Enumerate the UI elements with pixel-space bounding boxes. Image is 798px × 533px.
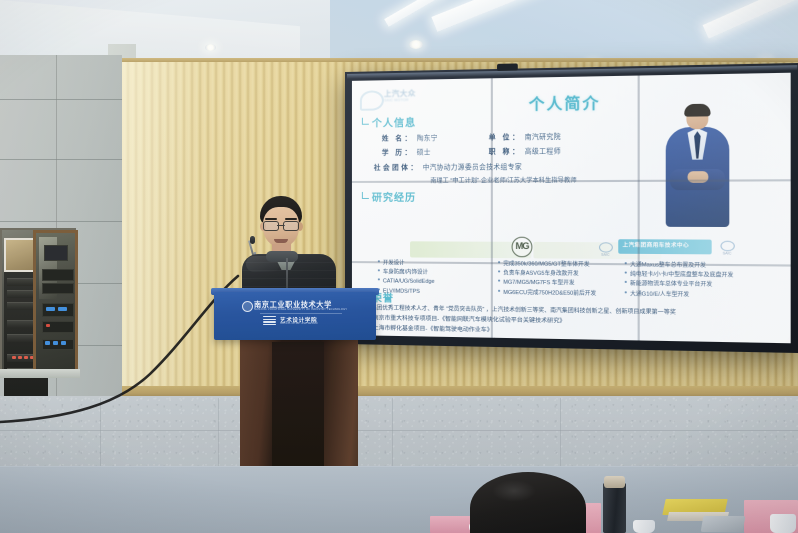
section-heading-research: 研究经历 xyxy=(362,189,416,204)
mobile-phone xyxy=(701,516,746,532)
university-name-en: NANJING VOCATIONAL UNIVERSITY OF INDUSTR… xyxy=(254,308,347,311)
downlight-icon xyxy=(205,44,216,51)
ceiling-camera-icon xyxy=(497,63,518,71)
section-tick-icon xyxy=(362,192,369,199)
thermos-bottle xyxy=(603,483,626,533)
bullet-column-commercial: 大通Maxus整车总布置及开发 纯电轻卡/小卡/中型底盘整车及底盘开发 新能源物… xyxy=(625,261,734,301)
podium-center-panel xyxy=(272,342,324,484)
wood-wall-top-trim xyxy=(122,58,798,62)
portrait-hair xyxy=(684,104,710,117)
university-emblem-icon xyxy=(242,301,253,312)
field-affiliation: 社会团体：中汽协动力源委员会技术组专家 xyxy=(374,161,522,172)
ceiling-mount-bracket xyxy=(44,245,68,261)
field-name: 姓 名：陶东宁 xyxy=(382,132,438,143)
panel-seam-vertical xyxy=(638,76,640,341)
section-tick-icon xyxy=(362,118,369,125)
jacket-collar xyxy=(266,251,298,262)
mini-logo-icon-right: SAIC xyxy=(716,241,738,256)
slide-portrait-photo xyxy=(664,106,732,228)
speaker-mouth xyxy=(274,239,288,243)
presentation-photo-scene: 上汽大众 SAIC MOTOR 个人简介 个人信息 姓 名：陶东宁 单 位：南汽… xyxy=(0,0,798,533)
section-heading-personal-info: 个人信息 xyxy=(362,114,416,130)
thermos-cap xyxy=(604,476,625,488)
speaker-eyebrow-left xyxy=(265,218,277,220)
field-title: 职 称：高级工程师 xyxy=(489,145,561,156)
speaker-person xyxy=(236,196,342,296)
field-education: 学 历：硕士 xyxy=(382,146,431,156)
paper-cup xyxy=(770,514,796,533)
speaker-eyebrow-right xyxy=(285,218,297,220)
mg-logo-icon: MG xyxy=(512,237,533,258)
panel-seam-vertical xyxy=(491,78,493,337)
audience-head-highlight xyxy=(492,480,536,502)
bullet-column-mg: 完成350k/360/MG5/GT整车体开发 负责车身ASVG5车身改款开发 M… xyxy=(498,260,596,299)
pink-paper xyxy=(430,516,472,533)
school-name-en: SCHOOL OF ART AND DESIGN xyxy=(280,323,318,325)
video-wall-screen: 上汽大众 SAIC MOTOR 个人简介 个人信息 姓 名：陶东宁 单 位：南汽… xyxy=(352,73,791,344)
school-logo-icon xyxy=(263,316,276,327)
sign-divider xyxy=(260,313,342,314)
slide-content: 上汽大众 SAIC MOTOR 个人简介 个人信息 姓 名：陶东宁 单 位：南汽… xyxy=(352,73,791,344)
video-wall[interactable]: 上汽大众 SAIC MOTOR 个人简介 个人信息 姓 名：陶东宁 单 位：南汽… xyxy=(345,63,798,353)
field-unit: 单 位：南汽研究院 xyxy=(489,131,561,142)
brand-band-right-label: 上汽集团商用车技术中心 xyxy=(623,241,690,249)
power-cable xyxy=(0,270,250,450)
paper-cup xyxy=(633,520,655,533)
mini-logo-icon: SAIC xyxy=(595,242,616,257)
eyeglasses-icon xyxy=(263,221,299,230)
downlight-icon xyxy=(409,40,423,49)
